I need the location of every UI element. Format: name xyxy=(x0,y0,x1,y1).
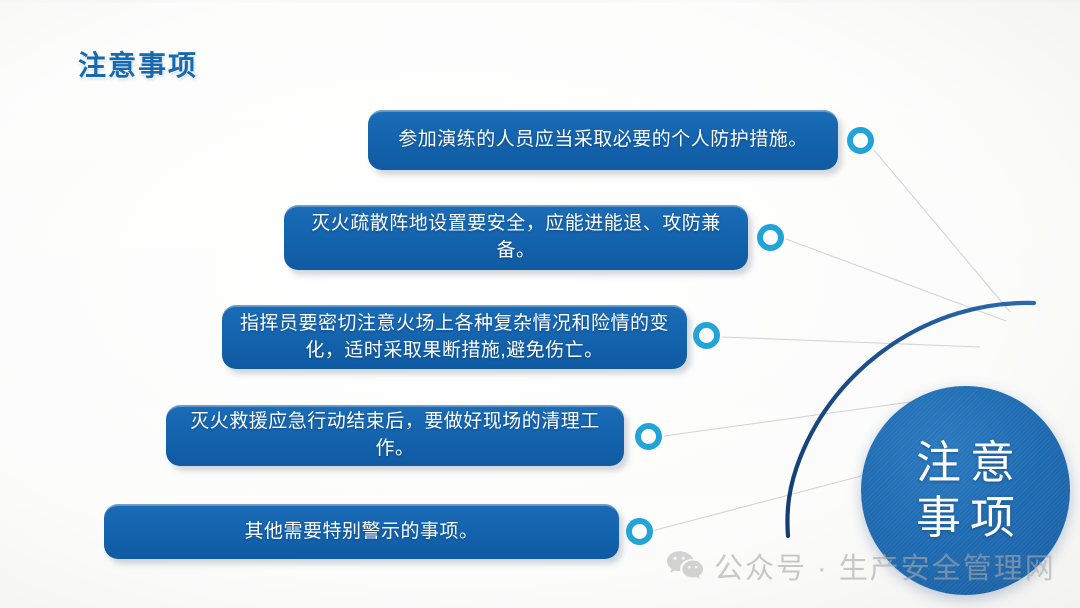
ring-marker[interactable] xyxy=(847,127,874,154)
focus-circle-line-2: 事项 xyxy=(907,491,1024,546)
focus-circle: 注意 事项 xyxy=(861,386,1070,595)
slide-canvas: 注意事项 参加演练的人员应当采取必要的个人防护措施。 灭 xyxy=(0,0,1080,608)
wechat-icon xyxy=(666,550,704,582)
item-label: 其他需要特别警示的事项。 xyxy=(122,519,601,546)
ring-marker[interactable] xyxy=(635,423,662,450)
focus-circle-line-1: 注意 xyxy=(907,436,1024,491)
item-bubble[interactable]: 参加演练的人员应当采取必要的个人防护措施。 xyxy=(368,110,838,170)
item-bubble[interactable]: 指挥员要密切注意火场上各种复杂情况和险情的变化，适时采取果断措施,避免伤亡。 xyxy=(222,305,687,369)
item-label: 指挥员要密切注意火场上各种复杂情况和险情的变化，适时采取果断措施,避免伤亡。 xyxy=(240,311,669,365)
item-label: 灭火救援应急行动结束后，要做好现场的清理工作。 xyxy=(184,409,606,463)
item-bubble[interactable]: 灭火疏散阵地设置要安全，应能进能退、攻防兼备。 xyxy=(284,205,748,270)
item-bubble[interactable]: 灭火救援应急行动结束后，要做好现场的清理工作。 xyxy=(166,405,624,466)
leader-line-1 xyxy=(874,150,1010,312)
item-label: 灭火疏散阵地设置要安全，应能进能退、攻防兼备。 xyxy=(302,211,730,265)
leader-line-3 xyxy=(722,337,980,347)
page-title: 注意事项 xyxy=(78,44,198,84)
item-bubble[interactable]: 其他需要特别警示的事项。 xyxy=(104,504,619,559)
ring-marker[interactable] xyxy=(626,518,653,545)
leader-line-5 xyxy=(648,470,884,532)
ring-marker[interactable] xyxy=(757,224,784,251)
item-label: 参加演练的人员应当采取必要的个人防护措施。 xyxy=(386,127,820,154)
ring-marker[interactable] xyxy=(693,322,720,349)
leader-line-2 xyxy=(786,239,1006,321)
